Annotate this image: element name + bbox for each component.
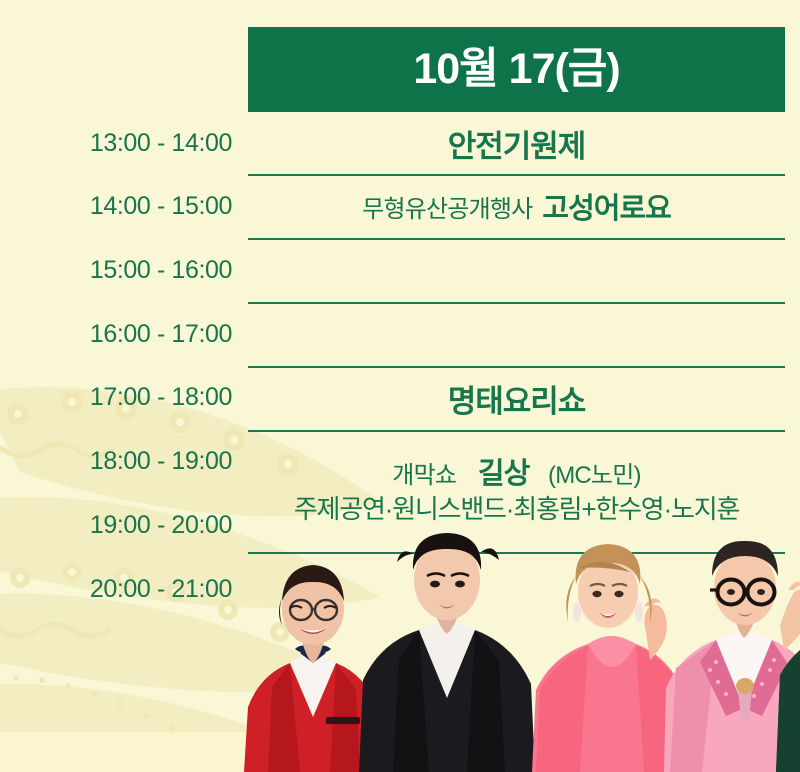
event-title: 안전기원제	[448, 121, 586, 166]
time-slot-label: 15:00 - 16:00	[0, 239, 232, 302]
time-slot-label: 19:00 - 20:00	[0, 494, 232, 557]
event-cell-myeongtae-yorisho[interactable]: 명태요리쇼	[248, 366, 785, 430]
schedule-poster: 10월 17(금) 13:00 - 14:00 14:00 - 15:00 15…	[0, 0, 800, 772]
time-slot-label: 13:00 - 14:00	[0, 112, 232, 175]
event-suffix: (MC노민)	[548, 462, 641, 489]
time-column: 13:00 - 14:00 14:00 - 15:00 15:00 - 16:0…	[0, 112, 248, 662]
bottom-band	[0, 732, 800, 772]
event-line-2: 주제공연·원니스밴드·최홍림+한수영·노지훈	[294, 493, 739, 526]
event-prefix: 개막쇼	[392, 462, 456, 489]
time-slot-label: 20:00 - 21:00	[0, 558, 232, 621]
time-slot-label: 14:00 - 15:00	[0, 175, 232, 238]
schedule-grid: 안전기원제 무형유산공개행사 고성어로요 명태요리쇼 개막쇼 길상	[248, 112, 785, 662]
event-cell-empty-1500[interactable]	[248, 238, 785, 302]
event-title: 길상	[478, 458, 529, 490]
event-line-1: 개막쇼 길상 (MC노민)	[392, 456, 640, 493]
date-header-bar: 10월 17(금)	[248, 27, 785, 112]
time-slot-label: 16:00 - 17:00	[0, 303, 232, 366]
event-cell-empty-1600[interactable]	[248, 302, 785, 366]
event-title: 고성어로요	[542, 185, 670, 227]
page-title: 10월 17(금)	[413, 48, 619, 91]
time-slot-label: 18:00 - 19:00	[0, 430, 232, 493]
event-title: 명태요리쇼	[448, 376, 586, 421]
row-separator	[248, 552, 785, 554]
time-slot-label: 17:00 - 18:00	[0, 366, 232, 429]
event-cell-opening-show[interactable]: 개막쇼 길상 (MC노민) 주제공연·원니스밴드·최홍림+한수영·노지훈	[248, 432, 785, 550]
event-cell-anjeon-giwonje[interactable]: 안전기원제	[248, 112, 785, 174]
event-prefix: 무형유산공개행사	[362, 189, 532, 224]
event-cell-goseong-eoroyo[interactable]: 무형유산공개행사 고성어로요	[248, 174, 785, 238]
